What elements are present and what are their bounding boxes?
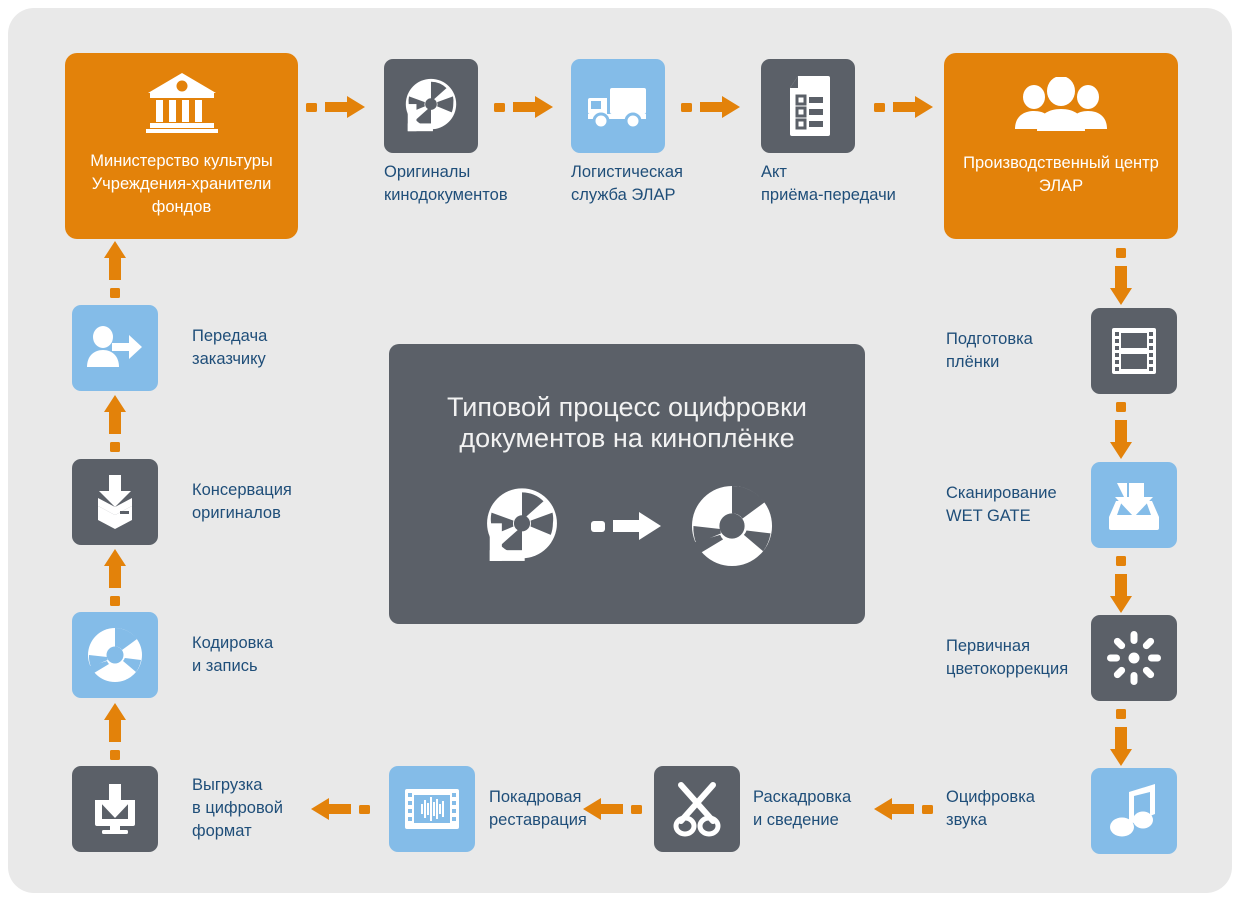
stage-export-tile[interactable] [72, 766, 158, 852]
arrow-up-encoding-to-conservation [104, 548, 126, 606]
monitor-download-icon [87, 782, 143, 836]
step-logistics-label: Логистическая служба ЭЛАР [571, 161, 721, 207]
film-reel-icon [400, 75, 462, 137]
stage-color-correction-label: Первичная цветокоррекция [946, 635, 1091, 681]
stage-conservation-tile[interactable] [72, 459, 158, 545]
stage-encoding-tile[interactable] [72, 612, 158, 698]
arrow-down-to-scanning [1110, 402, 1132, 460]
arrow-origin-to-originals [306, 96, 368, 118]
stage-color-correction-tile[interactable] [1091, 615, 1177, 701]
stage-audio-label: Оцифровка звука [946, 786, 1086, 832]
step-act-tile[interactable] [761, 59, 855, 153]
infographic-root: Министерство культуры Учреждения-храните… [0, 0, 1240, 901]
arrow-logistics-to-act [681, 96, 743, 118]
film-strip-icon [1107, 324, 1161, 378]
destination-box-label: Производственный центр ЭЛАР [944, 152, 1178, 198]
arrow-act-to-center [874, 96, 936, 118]
stage-conservation-label: Консервация оригиналов [192, 479, 342, 525]
archive-box-icon [86, 473, 144, 531]
stage-film-prep-tile[interactable] [1091, 308, 1177, 394]
arrow-up-export-to-encoding [104, 702, 126, 760]
stage-frames-label: Раскадровка и сведение [753, 786, 883, 832]
arrow-down-to-color [1110, 556, 1132, 614]
arrow-right-icon [591, 511, 663, 546]
three-people-icon [1012, 77, 1110, 138]
stage-restoration-tile[interactable] [389, 766, 475, 852]
person-handoff-icon [86, 325, 144, 371]
origin-box[interactable]: Министерство культуры Учреждения-храните… [65, 53, 298, 239]
step-act-label: Акт приёма-передачи [761, 161, 936, 207]
stage-encoding-label: Кодировка и запись [192, 632, 332, 678]
arrow-up-delivery-to-origin [104, 240, 126, 298]
bank-museum-icon [145, 71, 219, 138]
stage-delivery-label: Передача заказчику [192, 325, 322, 371]
step-originals-label: Оригиналы кинодокументов [384, 161, 534, 207]
arrow-originals-to-logistics [494, 96, 556, 118]
film-reel-icon [479, 483, 565, 574]
film-frame-waveform-icon [403, 786, 461, 832]
arrow-down-to-audio [1110, 709, 1132, 767]
origin-box-label: Министерство культуры Учреждения-храните… [65, 150, 298, 219]
stage-audio-tile[interactable] [1091, 768, 1177, 854]
stage-scanning-tile[interactable] [1091, 462, 1177, 548]
stage-film-prep-label: Подготовка плёнки [946, 328, 1086, 374]
destination-box[interactable]: Производственный центр ЭЛАР [944, 53, 1178, 239]
stage-scanning-label: Сканирование WET GATE [946, 482, 1086, 528]
truck-icon [586, 82, 650, 130]
stage-frames-tile[interactable] [654, 766, 740, 852]
scan-tray-icon [1106, 479, 1162, 531]
document-checklist-icon [782, 74, 834, 138]
arrow-up-conservation-to-delivery [104, 394, 126, 452]
brightness-sun-icon [1107, 631, 1161, 685]
scissors-icon [669, 781, 725, 837]
stage-restoration-label: Покадровая реставрация [489, 786, 604, 832]
compact-disc-icon [689, 483, 775, 574]
arrow-down-to-film-prep [1110, 248, 1132, 306]
infographic-canvas: Министерство культуры Учреждения-храните… [8, 8, 1232, 893]
music-note-icon [1109, 782, 1159, 840]
center-transform-row [479, 483, 775, 574]
step-logistics-tile[interactable] [571, 59, 665, 153]
step-originals-tile[interactable] [384, 59, 478, 153]
stage-export-label: Выгрузка в цифровой формат [192, 774, 322, 843]
center-title-line2: документов на киноплёнке [459, 420, 794, 457]
center-title-panel: Типовой процесс оцифровки документов на … [389, 344, 865, 624]
compact-disc-icon [86, 626, 144, 684]
stage-delivery-tile[interactable] [72, 305, 158, 391]
